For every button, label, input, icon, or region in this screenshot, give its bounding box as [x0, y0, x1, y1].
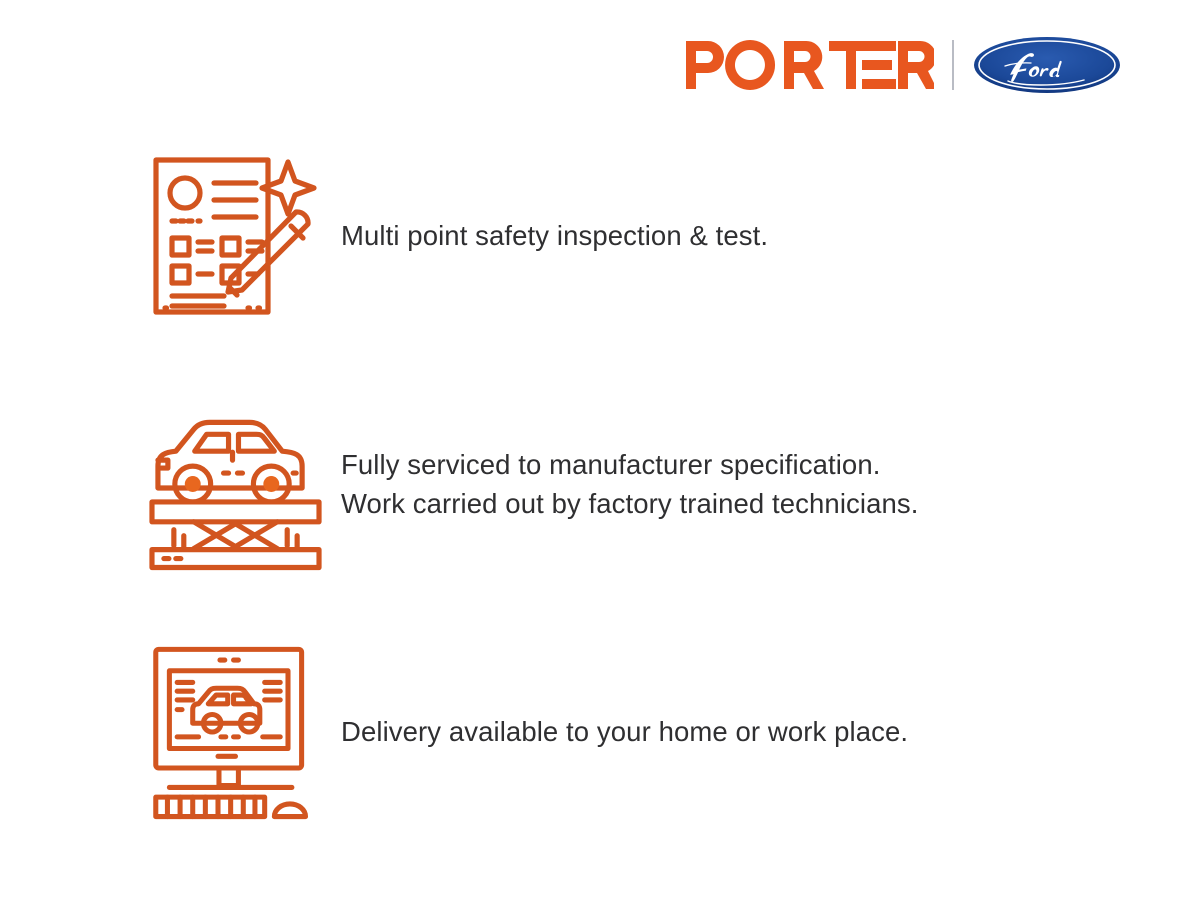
feature-row: Delivery available to your home or work … — [148, 644, 1148, 820]
feature-text: Delivery available to your home or work … — [323, 712, 908, 751]
porter-logo — [684, 37, 934, 93]
computer-delivery-icon — [148, 639, 323, 825]
feature-row: Multi point safety inspection & test. — [148, 148, 1148, 324]
feature-line: Multi point safety inspection & test. — [341, 216, 768, 255]
brand-header — [684, 34, 1122, 96]
clipboard-inspection-icon — [148, 150, 323, 322]
feature-line: Fully serviced to manufacturer specifica… — [341, 445, 918, 484]
feature-row: Fully serviced to manufacturer specifica… — [148, 396, 1148, 572]
feature-text: Multi point safety inspection & test. — [323, 216, 768, 255]
feature-line: Delivery available to your home or work … — [341, 712, 908, 751]
feature-line: Work carried out by factory trained tech… — [341, 484, 918, 523]
feature-text: Fully serviced to manufacturer specifica… — [323, 445, 918, 523]
brand-divider — [952, 40, 954, 90]
car-on-lift-icon — [148, 394, 323, 574]
feature-list: Multi point safety inspection & test. — [148, 148, 1148, 892]
ford-logo — [972, 35, 1122, 95]
